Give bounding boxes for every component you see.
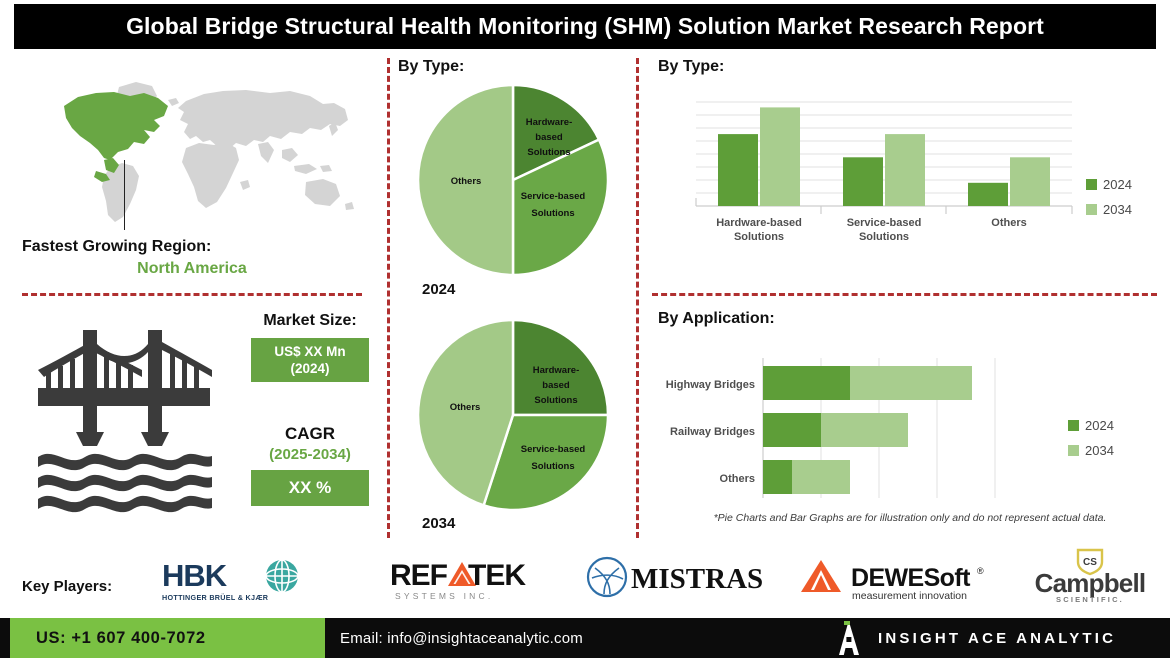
bar-chart-by-type: Hardware-based Solutions Service-based S… <box>660 90 1080 250</box>
legend-swatch-2034 <box>1086 204 1097 215</box>
hbar-2034-others <box>792 460 850 494</box>
svg-text:CS: CS <box>1083 557 1097 568</box>
legend-label-2024: 2024 <box>1103 177 1132 192</box>
divider-vertical-right <box>636 58 639 538</box>
bar-cat-hardware-2: Solutions <box>734 231 784 243</box>
svg-text:SCIENTIFIC.: SCIENTIFIC. <box>1056 595 1124 604</box>
application-chart-legend: 2024 2034 <box>1068 418 1114 468</box>
bar-section-title: By Type: <box>658 58 724 76</box>
legend-item: 2024 <box>1086 177 1132 192</box>
divider-horizontal-right <box>652 293 1157 296</box>
pie-chart-2034: Hardware- based Solutions Service-based … <box>408 317 618 513</box>
insightace-logo-icon <box>838 621 864 655</box>
divider-vertical-left <box>387 58 390 538</box>
world-map <box>18 70 368 230</box>
application-section-title: By Application: <box>658 310 775 328</box>
logo-mistras: MISTRAS <box>586 556 766 598</box>
footer-phone-block: US: +1 607 400-7072 <box>10 618 325 658</box>
footer-brand: INSIGHT ACE ANALYTIC <box>838 618 1116 658</box>
chart-footnote: *Pie Charts and Bar Graphs are for illus… <box>660 512 1160 524</box>
legend-item: 2034 <box>1068 443 1114 458</box>
bar-chart-legend: 2024 2034 <box>1086 177 1132 227</box>
legend-label-2034: 2034 <box>1085 443 1114 458</box>
pie-2034-label-hardware-1: Hardware- <box>533 365 579 376</box>
legend-label-2034: 2034 <box>1103 202 1132 217</box>
logo-reftek: REF TEK SYSTEMS INC. <box>390 556 540 604</box>
bar-cat-others: Others <box>991 217 1026 229</box>
bar-2024-hardware <box>718 134 758 206</box>
legend-item: 2034 <box>1086 202 1132 217</box>
cagr-box: XX % <box>251 470 369 506</box>
bar-2024-others <box>968 183 1008 206</box>
fastest-region-label: Fastest Growing Region: <box>22 238 362 256</box>
bridge-icon <box>30 320 220 515</box>
market-size-box: US$ XX Mn (2024) <box>251 338 369 382</box>
legend-swatch-2024 <box>1086 179 1097 190</box>
pie-2024-label-service-1: Service-based <box>521 191 586 202</box>
footer-email[interactable]: Email: info@insightaceanalytic.com <box>340 618 583 658</box>
bar-2034-service <box>885 134 925 206</box>
bar-chart-by-application: Highway Bridges Railway Bridges Others <box>655 350 1065 510</box>
legend-label-2024: 2024 <box>1085 418 1114 433</box>
hbar-cat-highway: Highway Bridges <box>666 379 755 391</box>
market-size-year: (2024) <box>290 360 329 377</box>
pie-2024-label-hardware-3: Solutions <box>527 147 570 158</box>
pie-chart-2024: Hardware- based Solutions Service-based … <box>408 82 618 278</box>
hbar-2034-railway <box>821 413 908 447</box>
hbar-cat-railway: Railway Bridges <box>670 426 755 438</box>
pie-2034-label-hardware-2: based <box>542 380 570 391</box>
cagr-value: XX % <box>289 478 332 498</box>
svg-text:HBK: HBK <box>162 558 228 593</box>
market-size-value: US$ XX Mn <box>274 343 345 360</box>
hbar-2024-highway <box>763 366 850 400</box>
market-size-title: Market Size: <box>240 312 380 330</box>
pie-2034-label-service-2: Solutions <box>531 461 574 472</box>
logo-campbell-scientific: CS Campbell SCIENTIFIC. <box>1022 548 1162 604</box>
fastest-region-value: North America <box>22 260 362 278</box>
pie-2024-label-service-2: Solutions <box>531 208 574 219</box>
pie-2024-label-hardware-2: based <box>535 132 563 143</box>
pie-2034-label-others: Others <box>450 402 481 413</box>
bar-cat-hardware-1: Hardware-based <box>716 217 802 229</box>
hbar-2024-railway <box>763 413 821 447</box>
svg-text:DEWESoft: DEWESoft <box>851 564 971 592</box>
legend-item: 2024 <box>1068 418 1114 433</box>
key-players-label: Key Players: <box>22 578 112 595</box>
pie-2024-label-others: Others <box>451 176 482 187</box>
north-america-region <box>64 92 168 182</box>
svg-text:®: ® <box>977 566 984 576</box>
divider-horizontal-left <box>22 293 362 296</box>
svg-text:SYSTEMS INC.: SYSTEMS INC. <box>395 591 493 601</box>
cagr-years: (2025-2034) <box>240 446 380 463</box>
header-bar: Global Bridge Structural Health Monitori… <box>14 4 1156 49</box>
pie-year-2034: 2034 <box>422 515 455 532</box>
hbar-2024-others <box>763 460 792 494</box>
svg-text:measurement innovation: measurement innovation <box>852 590 967 602</box>
infographic-page: Global Bridge Structural Health Monitori… <box>0 0 1170 658</box>
pie-2024-label-hardware-1: Hardware- <box>526 117 572 128</box>
bar-cat-service-2: Solutions <box>859 231 909 243</box>
region-pointer-line <box>124 160 125 230</box>
legend-swatch-2024 <box>1068 420 1079 431</box>
bar-2034-others <box>1010 157 1050 206</box>
cagr-title: CAGR <box>240 424 380 444</box>
svg-text:Campbell: Campbell <box>1035 568 1146 598</box>
pie-2034-label-hardware-3: Solutions <box>534 395 577 406</box>
bar-2024-service <box>843 157 883 206</box>
bar-cat-service-1: Service-based <box>847 217 922 229</box>
footer-phone: US: +1 607 400-7072 <box>10 629 206 648</box>
logo-hbk: HBK HOTTINGER BRÜEL & KJÆR <box>160 556 310 604</box>
page-title: Global Bridge Structural Health Monitori… <box>126 13 1044 40</box>
pie-2034-label-service-1: Service-based <box>521 444 586 455</box>
pie-year-2024: 2024 <box>422 281 455 298</box>
pie-section-title-2024: By Type: <box>398 58 464 76</box>
svg-text:TEK: TEK <box>468 559 526 592</box>
svg-text:HOTTINGER BRÜEL & KJÆR: HOTTINGER BRÜEL & KJÆR <box>162 593 269 602</box>
svg-text:MISTRAS: MISTRAS <box>631 563 763 595</box>
footer-brand-text: INSIGHT ACE ANALYTIC <box>878 630 1116 647</box>
svg-text:REF: REF <box>390 559 448 592</box>
hbar-cat-others: Others <box>720 473 755 485</box>
bar-2034-hardware <box>760 107 800 206</box>
legend-swatch-2034 <box>1068 445 1079 456</box>
hbar-2034-highway <box>850 366 972 400</box>
logo-dewesoft: DEWESoft ® measurement innovation <box>795 556 995 604</box>
